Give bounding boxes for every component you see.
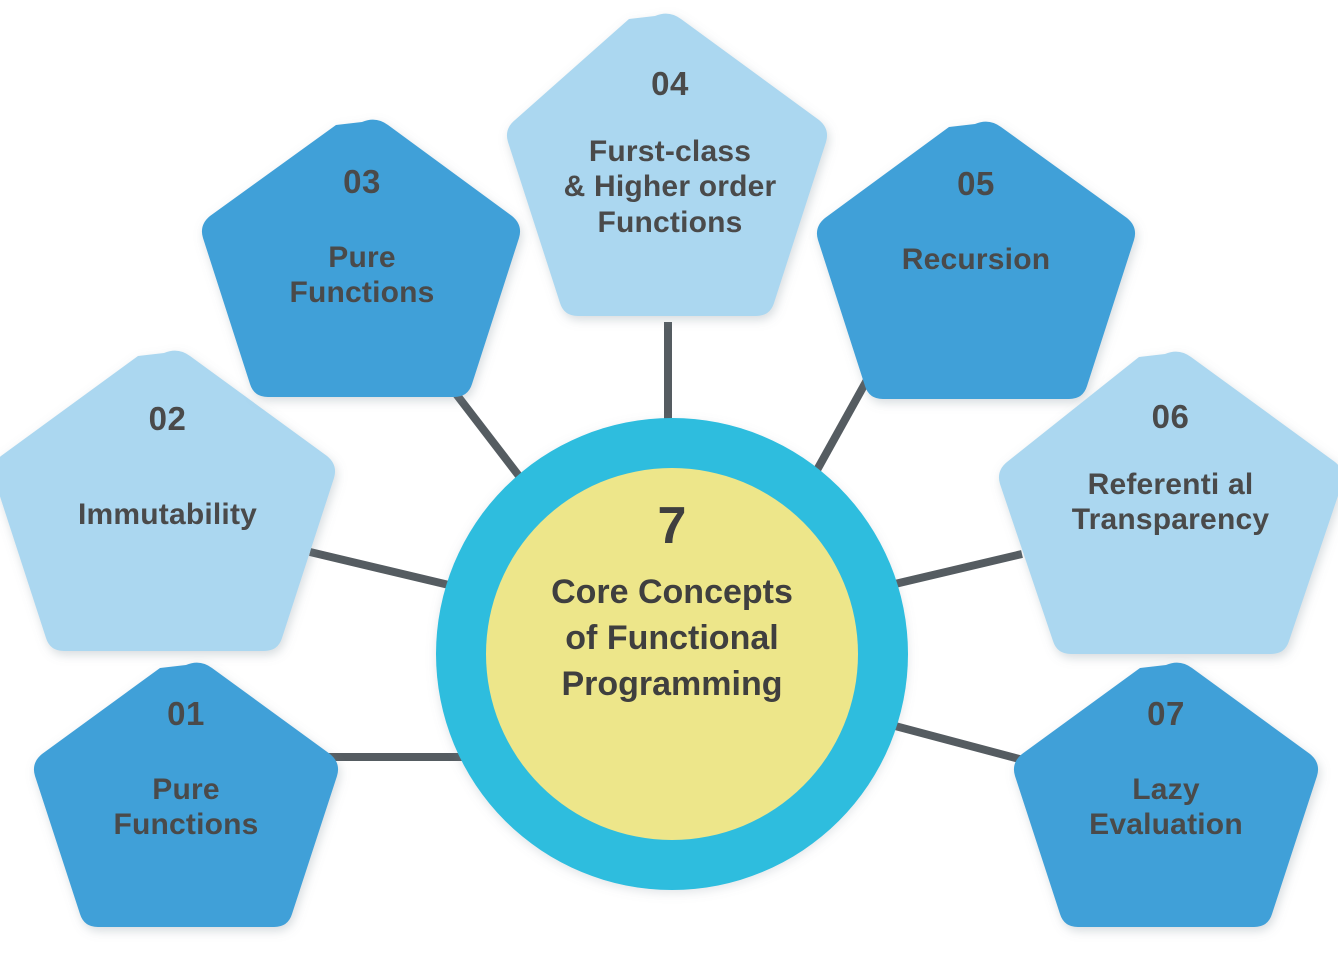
connector-07 xyxy=(880,722,1023,760)
node-04[interactable] xyxy=(507,14,827,316)
hub-title-line-2: of Functional xyxy=(487,616,857,662)
node-05[interactable] xyxy=(817,122,1135,399)
hub-title-line-3: Programming xyxy=(487,662,857,708)
node-07-pentagon[interactable] xyxy=(1014,663,1318,927)
node-07[interactable] xyxy=(1014,663,1318,927)
node-03-pentagon[interactable] xyxy=(202,120,520,397)
node-01-pentagon[interactable] xyxy=(34,663,338,927)
hub-title-line-1: Core Concepts xyxy=(487,570,857,616)
infographic-canvas: 7 Core Concepts of Functional Programmin… xyxy=(0,0,1338,976)
node-03[interactable] xyxy=(202,120,520,397)
connector-05 xyxy=(817,371,872,470)
node-05-pentagon[interactable] xyxy=(817,122,1135,399)
connector-02 xyxy=(310,552,470,590)
hub-text-block: 7 Core Concepts of Functional Programmin… xyxy=(487,500,857,708)
node-01[interactable] xyxy=(34,663,338,927)
hub-title: Core Concepts of Functional Programming xyxy=(487,570,857,708)
connector-06 xyxy=(882,554,1022,587)
hub-number: 7 xyxy=(487,500,857,552)
diagram-svg xyxy=(0,0,1338,976)
node-04-pentagon[interactable] xyxy=(507,14,827,316)
